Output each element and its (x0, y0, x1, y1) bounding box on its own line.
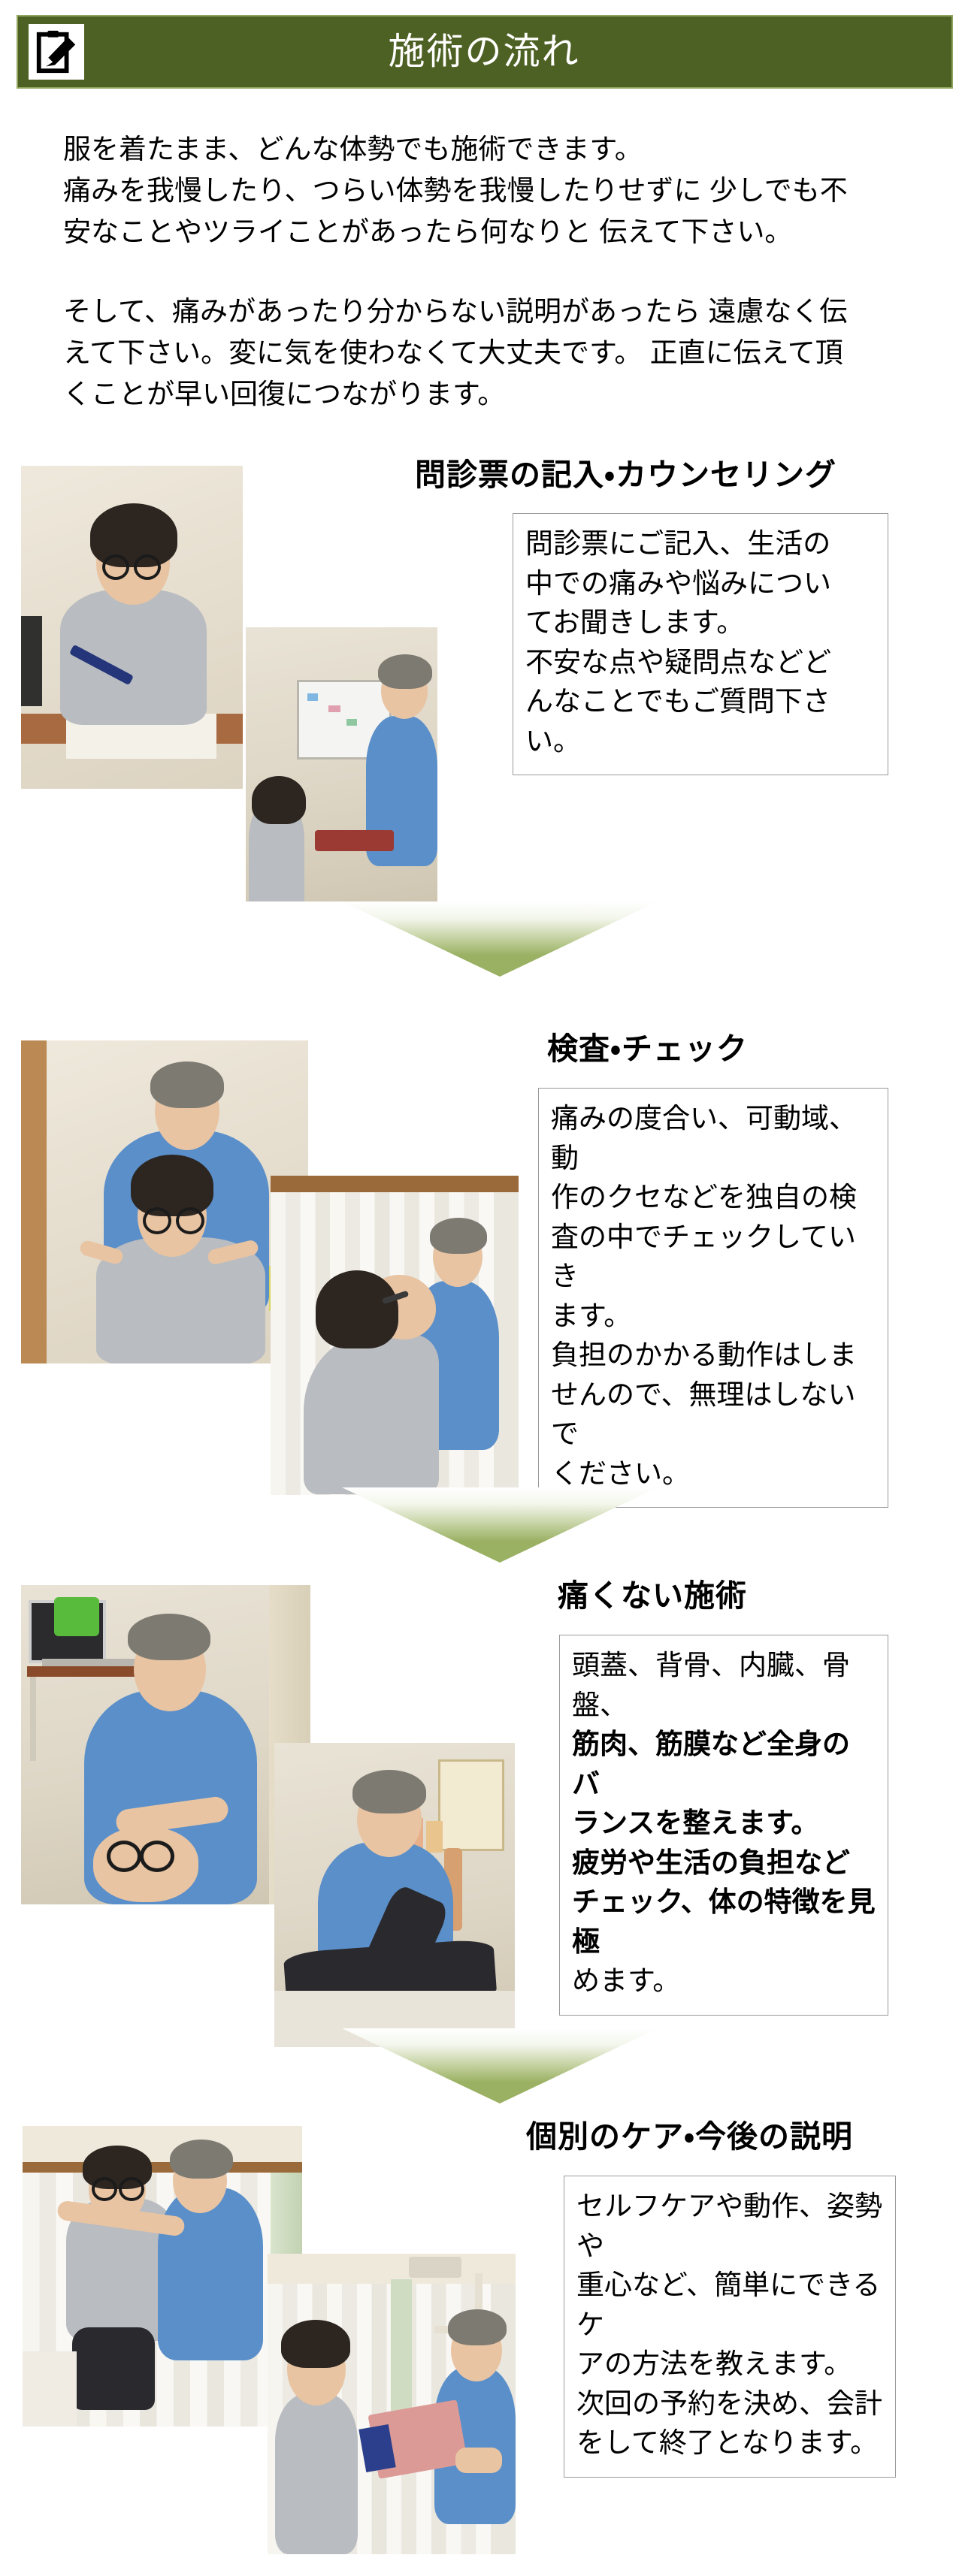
step-1-photo-left (21, 466, 243, 789)
step-3-body-line-1: 頭蓋、背骨、内臓、骨盤、 (572, 1646, 877, 1725)
step-2-body-line-1: 痛みの度合い、可動域、動 (551, 1099, 877, 1178)
intro-line-6: くことが早い回復につながります。 (63, 374, 905, 415)
intro-line-5: えて下さい。変に気を使わなくて大丈夫です。 正直に伝えて頂 (63, 333, 905, 374)
step-3-body-line-2: 筋肉、筋膜など全身のバ (572, 1725, 877, 1804)
step-2-body-line-4: ます。 (551, 1297, 877, 1336)
intro-line-1: 服を着たまま、どんな体勢でも施術できます。 (63, 129, 905, 171)
step-3-body-line-4: 疲労や生活の負担など (572, 1844, 877, 1883)
step-1-body-line-1: 問診票にご記入、生活の (525, 524, 877, 564)
step-2-body-line-6: せんので、無理はしないで (551, 1376, 877, 1454)
step-4-photo-left (23, 2126, 302, 2427)
step-2-textbox: 痛みの度合い、可動域、動 作のクセなどを独自の検 査の中でチェックしていき ます… (538, 1088, 888, 1508)
step-2-body-line-5: 負担のかかる動作はしま (551, 1336, 877, 1376)
step-1-photo-right (246, 627, 437, 901)
intro-line-4: そして、痛みがあったり分からない説明があったら 遠慮なく伝 (63, 291, 905, 333)
step-3-heading: 痛くない施術 (558, 1581, 747, 1611)
step-4-textbox: セルフケアや動作、姿勢や 重心など、簡単にできるケ アの方法を教えます。 次回の… (564, 2176, 896, 2478)
step-3-textbox: 頭蓋、背骨、内臓、骨盤、 筋肉、筋膜など全身のバ ランスを整えます。 疲労や生活… (559, 1635, 888, 2016)
step-4-body-line-1: セルフケアや動作、姿勢や (576, 2187, 885, 2266)
step-1-body-line-4: 不安な点や疑問点などど (525, 643, 877, 683)
treatment-flow-page: 施術の流れ 服を着たまま、どんな体勢でも施術できます。 痛みを我慢したり、つらい… (0, 0, 962, 2576)
step-3-body-line-5: チェック、体の特徴を見極 (572, 1883, 877, 1961)
step-2-heading: 検査・チェック (547, 1034, 748, 1065)
step-2-body-line-3: 査の中でチェックしていき (551, 1218, 877, 1297)
step-3-photo-left (21, 1585, 310, 1904)
step-1-body-line-2: 中での痛みや悩みについ (525, 564, 877, 604)
step-3-body-line-6: めます。 (572, 1961, 877, 2001)
step-2-body-line-2: 作のクセなどを独自の検 (551, 1178, 877, 1218)
step-4-body-line-2: 重心など、簡単にできるケ (576, 2266, 885, 2345)
step-3-body-line-3: ランスを整えます。 (572, 1804, 877, 1844)
step-2-photo-left (21, 1040, 308, 1363)
intro-line-2: 痛みを我慢したり、つらい体勢を我慢したりせずに 少しでも不 (63, 171, 905, 212)
page-header-bar: 施術の流れ (17, 15, 953, 89)
step-1-heading: 問診票の記入・カウンセリング (415, 460, 836, 491)
step-4-body-line-3: アの方法を教えます。 (576, 2345, 885, 2384)
step-4-body-line-4: 次回の予約を決め、会計 (576, 2384, 885, 2424)
step-1-body-line-3: てお聞きします。 (525, 603, 877, 643)
intro-text: 服を着たまま、どんな体勢でも施術できます。 痛みを我慢したり、つらい体勢を我慢し… (63, 129, 905, 415)
step-1-body-line-5: んなことでもご質問下さい。 (525, 682, 877, 761)
intro-line-3: 安なことやツライことがあったら何なりと 伝えて下さい。 (63, 212, 905, 253)
step-4-photo-right (268, 2254, 516, 2554)
step-4-body-line-5: をして終了となります。 (576, 2423, 885, 2463)
step-1-textbox: 問診票にご記入、生活の 中での痛みや悩みについ てお聞きします。 不安な点や疑問… (513, 513, 888, 775)
step-4-heading: 個別のケア・今後の説明 (526, 2122, 853, 2152)
step-3-photo-right (274, 1743, 515, 2047)
page-title: 施術の流れ (84, 34, 951, 71)
step-2-photo-right (271, 1176, 519, 1495)
clipboard-pencil-icon (29, 24, 84, 80)
